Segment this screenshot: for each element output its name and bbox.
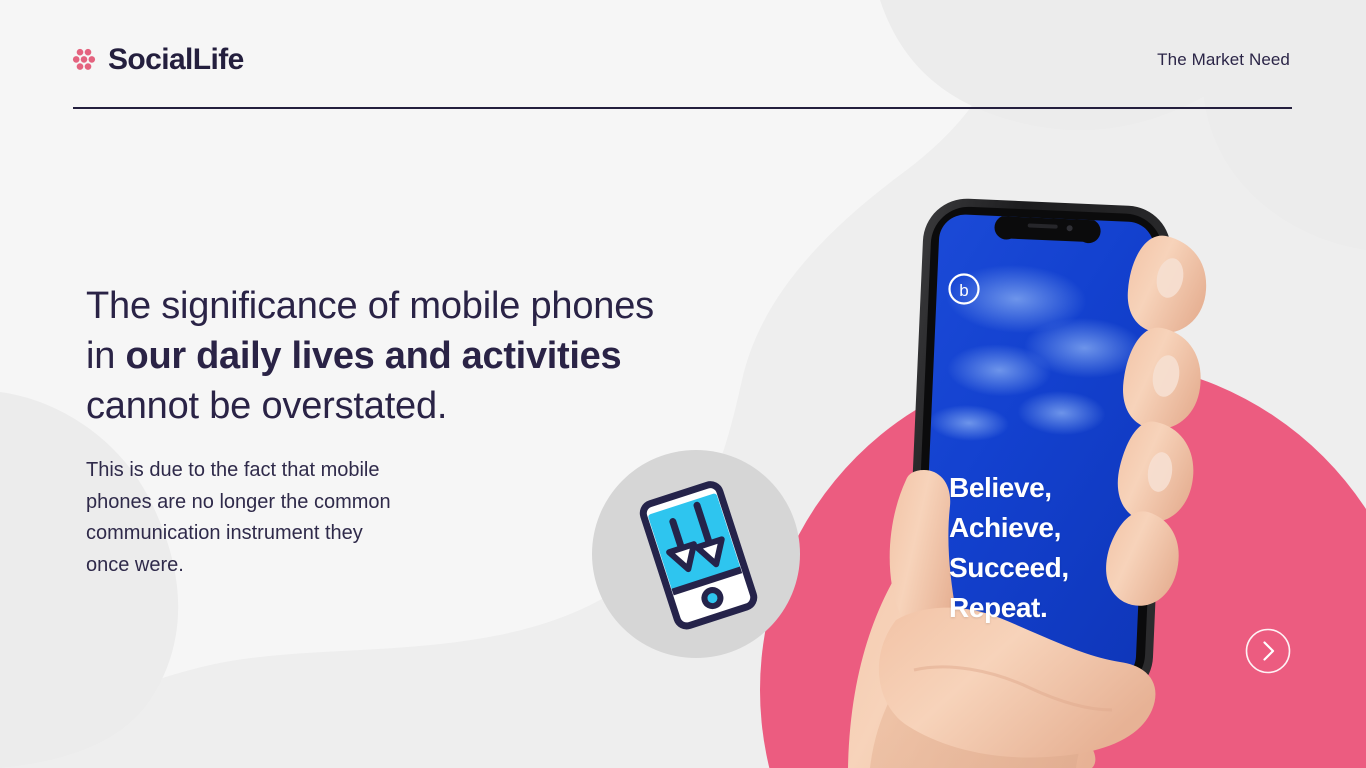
phone-brand-letter: b	[959, 281, 968, 300]
hand-phone-illustration	[700, 150, 1366, 768]
hand-holding-phone-photo	[700, 150, 1366, 768]
page-title: The significance of mobile phones in our…	[86, 281, 766, 431]
next-slide-button[interactable]	[1245, 628, 1291, 674]
slide-header: SocialLife The Market Need	[0, 0, 1366, 118]
headline-emphasis: our daily lives and activities	[126, 335, 622, 377]
header-divider	[73, 107, 1292, 109]
phone-brand-logo-icon: b	[947, 272, 981, 306]
phone-screen-headline: Believe, Achieve, Succeed, Repeat.	[949, 468, 1129, 628]
brand-logo[interactable]: SocialLife	[72, 45, 244, 75]
headline-tail: cannot be overstated.	[86, 385, 447, 427]
chevron-right-icon[interactable]	[1245, 628, 1291, 674]
section-label: The Market Need	[1157, 50, 1290, 70]
brand-name: SocialLife	[108, 45, 244, 75]
flower-dots-icon	[72, 47, 98, 73]
slide-root: SocialLife The Market Need The significa…	[0, 0, 1366, 768]
body-paragraph: This is due to the fact that mobile phon…	[86, 455, 506, 581]
